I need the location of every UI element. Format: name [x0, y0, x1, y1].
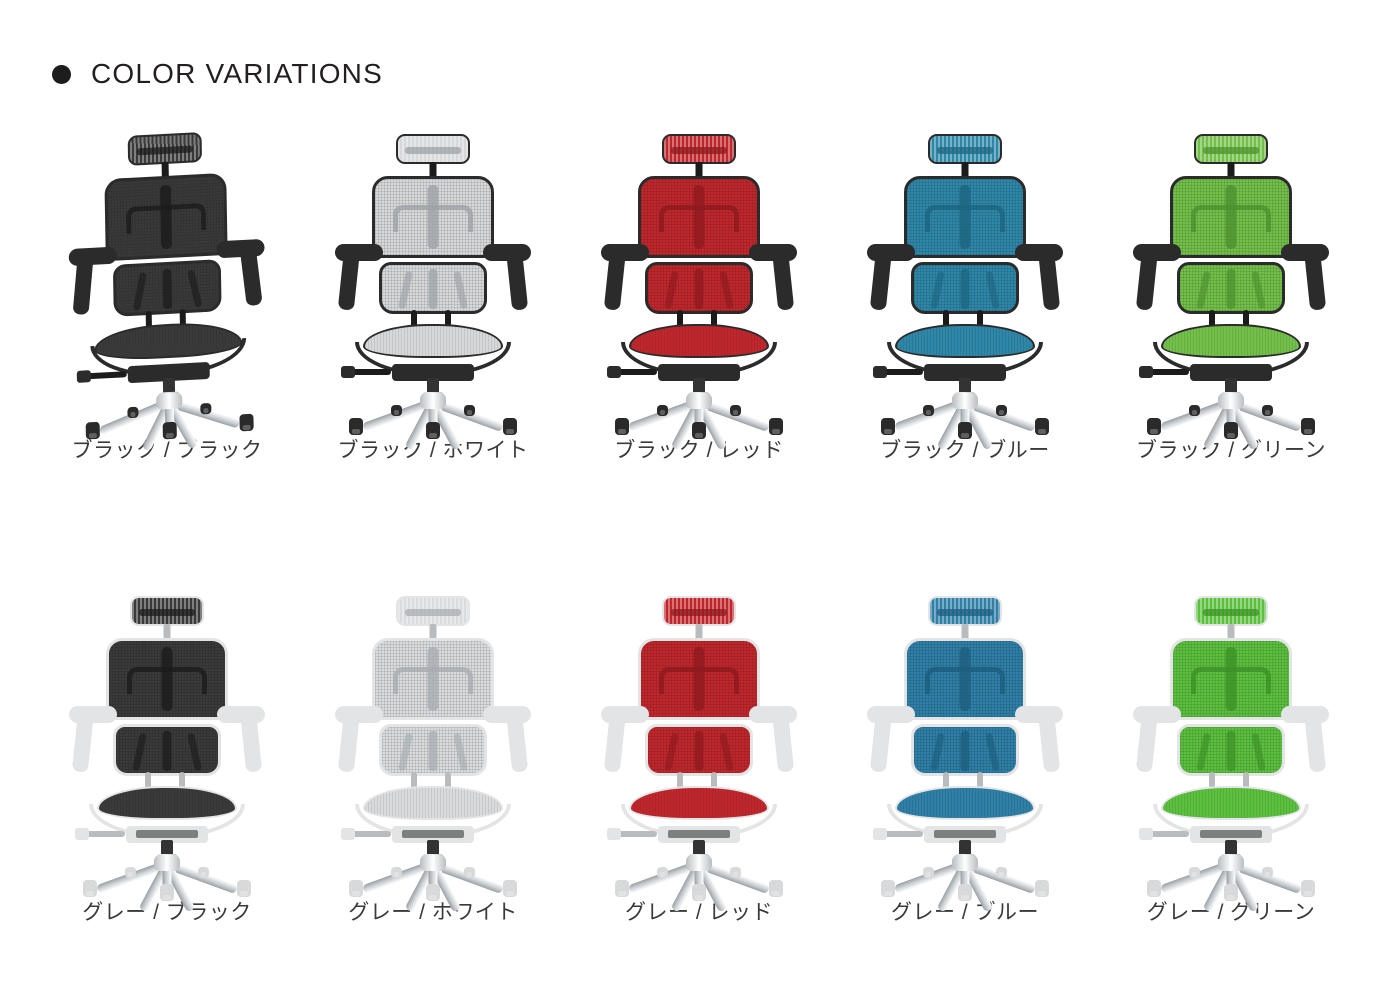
- chair-upper-backrest: [638, 638, 760, 720]
- color-variation-item[interactable]: グレー / ブルー: [832, 580, 1098, 926]
- chair-headrest: [928, 134, 1002, 164]
- caster: [923, 405, 934, 416]
- color-variations-page: COLOR VARIATIONS ブラック / ブラックブラック / ホワイトブ…: [0, 0, 1400, 1000]
- chair-image: [566, 580, 832, 880]
- five-star-base: [875, 858, 1055, 884]
- lumbar-wing-left: [664, 733, 679, 772]
- color-variation-item[interactable]: ブラック / ブルー: [832, 118, 1098, 464]
- chair-seat: [363, 786, 503, 820]
- caster: [426, 422, 440, 439]
- lumbar-wing-left: [398, 733, 413, 772]
- lumbar-wing-right: [719, 733, 734, 772]
- chair-seat: [629, 324, 769, 358]
- caster: [958, 422, 972, 439]
- color-variation-item[interactable]: ブラック / グリーン: [1098, 118, 1364, 464]
- chair-seat: [895, 324, 1035, 358]
- caster: [1301, 418, 1315, 435]
- chair-image: [832, 118, 1098, 418]
- color-variation-grid: ブラック / ブラックブラック / ホワイトブラック / レッドブラック / ブ…: [0, 118, 1400, 926]
- office-chair-illustration: [1131, 590, 1331, 880]
- height-adjust-lever: [883, 369, 923, 375]
- caster: [160, 884, 174, 901]
- caster: [464, 405, 475, 416]
- chair-upper-backrest: [372, 638, 494, 720]
- chair-lumbar-backrest: [1177, 262, 1285, 314]
- chair-upper-backrest: [904, 638, 1026, 720]
- chair-headrest: [130, 596, 204, 626]
- caster: [1189, 405, 1200, 416]
- five-star-base: [609, 396, 789, 422]
- chair-headrest: [928, 596, 1002, 626]
- chair-image: [34, 580, 300, 880]
- color-variation-item[interactable]: ブラック / レッド: [566, 118, 832, 464]
- five-star-base: [79, 391, 259, 426]
- lumbar-wing-left: [133, 272, 147, 311]
- five-star-base: [343, 396, 523, 422]
- five-star-base: [77, 858, 257, 884]
- base-hub: [420, 393, 446, 409]
- caster: [237, 880, 251, 897]
- office-chair-illustration: [865, 590, 1065, 880]
- chair-lumbar-backrest: [379, 262, 487, 314]
- lumbar-wing-left: [930, 733, 945, 772]
- office-chair-illustration: [1131, 128, 1331, 418]
- caster: [730, 405, 741, 416]
- base-hub: [1218, 855, 1244, 871]
- caster: [239, 414, 253, 432]
- chair-lumbar-backrest: [113, 259, 222, 317]
- chair-lumbar-backrest: [911, 724, 1019, 776]
- chair-seat: [1161, 786, 1301, 820]
- lumbar-wing-right: [1251, 733, 1266, 772]
- caster: [1035, 418, 1049, 435]
- chair-image: [1098, 580, 1364, 880]
- caster: [198, 867, 209, 878]
- lumbar-wing-left: [1196, 271, 1211, 310]
- chair-upper-backrest: [1170, 638, 1292, 720]
- chair-row-grey-frame: グレー / ブラックグレー / ホワイトグレー / レッドグレー / ブルーグレ…: [34, 580, 1366, 926]
- chair-upper-backrest: [104, 173, 227, 261]
- chair-image: [1098, 118, 1364, 418]
- color-variation-item[interactable]: グレー / レッド: [566, 580, 832, 926]
- base-hub: [952, 393, 978, 409]
- caster: [1147, 418, 1161, 435]
- chair-seat: [1161, 324, 1301, 358]
- color-variation-item[interactable]: グレー / ホワイト: [300, 580, 566, 926]
- base-hub: [156, 392, 182, 409]
- lumbar-wing-right: [187, 733, 202, 772]
- lumbar-wing-left: [930, 271, 945, 310]
- color-variation-item[interactable]: グレー / ブラック: [34, 580, 300, 926]
- caster: [391, 867, 402, 878]
- caster: [503, 418, 517, 435]
- caster: [657, 405, 668, 416]
- lumbar-wing-right: [719, 271, 734, 310]
- caster: [503, 880, 517, 897]
- height-adjust-lever: [1149, 369, 1189, 375]
- chair-row-black-frame: ブラック / ブラックブラック / ホワイトブラック / レッドブラック / ブ…: [34, 118, 1366, 464]
- chair-seat: [629, 786, 769, 820]
- caster: [200, 403, 211, 415]
- chair-lumbar-backrest: [379, 724, 487, 776]
- chair-upper-backrest: [638, 176, 760, 258]
- base-hub: [420, 855, 446, 871]
- caster: [1147, 880, 1161, 897]
- caster: [1189, 867, 1200, 878]
- lumbar-wing-left: [132, 733, 147, 772]
- chair-seat: [363, 324, 503, 358]
- office-chair-illustration: [865, 128, 1065, 418]
- height-adjust-lever: [351, 369, 391, 375]
- chair-headrest: [396, 134, 470, 164]
- chair-lumbar-backrest: [911, 262, 1019, 314]
- chair-seat: [895, 786, 1035, 820]
- chair-upper-backrest: [1170, 176, 1292, 258]
- page-heading: COLOR VARIATIONS: [0, 0, 1400, 90]
- caster: [349, 418, 363, 435]
- chair-lumbar-backrest: [113, 724, 221, 776]
- lumbar-wing-left: [664, 271, 679, 310]
- chair-upper-backrest: [904, 176, 1026, 258]
- bullet-dot-icon: [52, 65, 71, 84]
- base-hub: [952, 855, 978, 871]
- lumbar-wing-left: [398, 271, 413, 310]
- lumbar-wing-right: [453, 733, 468, 772]
- office-chair-illustration: [599, 590, 799, 880]
- caster: [996, 867, 1007, 878]
- height-adjust-lever: [617, 369, 657, 375]
- lumbar-wing-left: [1196, 733, 1211, 772]
- height-adjust-lever: [617, 831, 657, 837]
- caster: [730, 867, 741, 878]
- height-adjust-lever: [1149, 831, 1189, 837]
- caster: [692, 422, 706, 439]
- lumbar-wing-right: [453, 271, 468, 310]
- caster: [923, 867, 934, 878]
- caster: [1035, 880, 1049, 897]
- office-chair-illustration: [599, 128, 799, 418]
- five-star-base: [609, 858, 789, 884]
- chair-image: [832, 580, 1098, 880]
- caster: [127, 407, 138, 419]
- caster: [769, 418, 783, 435]
- chair-headrest: [662, 596, 736, 626]
- chair-lumbar-backrest: [645, 724, 753, 776]
- caster: [464, 867, 475, 878]
- five-star-base: [1141, 858, 1321, 884]
- caster: [1262, 405, 1273, 416]
- height-adjust-lever: [87, 371, 127, 379]
- chair-headrest: [1194, 134, 1268, 164]
- chair-headrest: [662, 134, 736, 164]
- chair-image: [300, 118, 566, 418]
- caster: [881, 418, 895, 435]
- caster: [769, 880, 783, 897]
- caster: [1262, 867, 1273, 878]
- caster: [1301, 880, 1315, 897]
- chair-image: [566, 118, 832, 418]
- caster: [996, 405, 1007, 416]
- chair-headrest: [1194, 596, 1268, 626]
- height-adjust-lever: [351, 831, 391, 837]
- page-title: COLOR VARIATIONS: [91, 58, 383, 90]
- chair-upper-backrest: [372, 176, 494, 258]
- caster: [86, 422, 100, 440]
- office-chair-illustration: [67, 590, 267, 880]
- lumbar-wing-right: [985, 271, 1000, 310]
- base-hub: [154, 855, 180, 871]
- base-hub: [686, 855, 712, 871]
- chair-image: [34, 118, 300, 418]
- color-variation-item[interactable]: ブラック / ブラック: [34, 118, 300, 464]
- caster: [163, 422, 177, 440]
- color-variation-item[interactable]: ブラック / ホワイト: [300, 118, 566, 464]
- five-star-base: [875, 396, 1055, 422]
- caster: [1224, 422, 1238, 439]
- office-chair-illustration: [67, 128, 267, 418]
- caster: [83, 880, 97, 897]
- caster: [958, 884, 972, 901]
- five-star-base: [1141, 396, 1321, 422]
- caster: [615, 880, 629, 897]
- caster: [391, 405, 402, 416]
- chair-image: [300, 580, 566, 880]
- lumbar-wing-right: [985, 733, 1000, 772]
- base-hub: [1218, 393, 1244, 409]
- height-adjust-lever: [883, 831, 923, 837]
- office-chair-illustration: [333, 128, 533, 418]
- base-hub: [686, 393, 712, 409]
- lumbar-wing-right: [1251, 271, 1266, 310]
- office-chair-illustration: [333, 590, 533, 880]
- chair-lumbar-backrest: [645, 262, 753, 314]
- chair-headrest: [396, 596, 470, 626]
- lumbar-wing-right: [187, 269, 202, 308]
- chair-upper-backrest: [106, 638, 228, 720]
- caster: [349, 880, 363, 897]
- caster: [657, 867, 668, 878]
- caster: [1224, 884, 1238, 901]
- caster: [615, 418, 629, 435]
- caster: [692, 884, 706, 901]
- five-star-base: [343, 858, 523, 884]
- caster: [881, 880, 895, 897]
- chair-lumbar-backrest: [1177, 724, 1285, 776]
- chair-seat: [97, 786, 237, 820]
- caster: [125, 867, 136, 878]
- height-adjust-lever: [85, 831, 125, 837]
- chair-headrest: [128, 132, 202, 166]
- caster: [426, 884, 440, 901]
- color-variation-item[interactable]: グレー / グリーン: [1098, 580, 1364, 926]
